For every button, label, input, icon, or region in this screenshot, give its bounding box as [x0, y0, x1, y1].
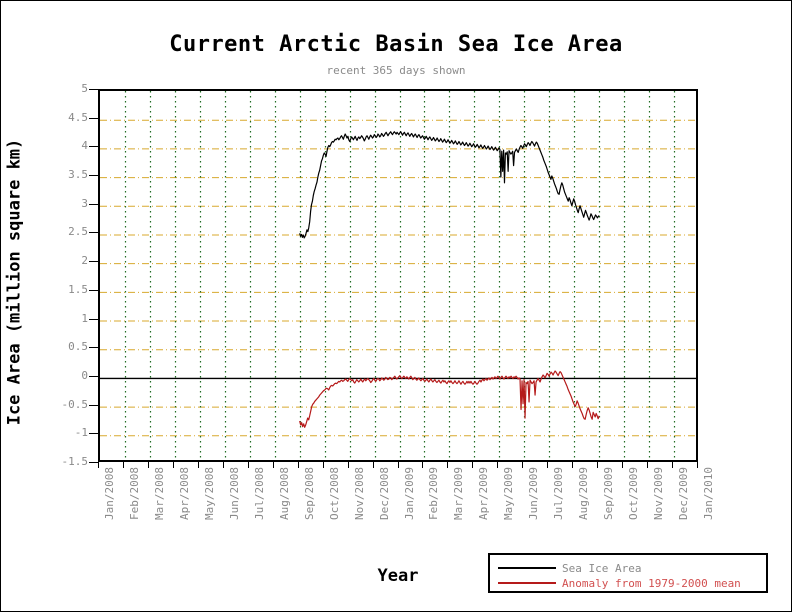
y-tick-label: 0 — [81, 369, 88, 382]
series-line — [300, 371, 600, 427]
y-tick-mark — [89, 175, 98, 176]
data-series-layer — [100, 91, 696, 460]
y-tick-label: 3.5 — [68, 168, 88, 181]
x-tick-label: Sep/2009 — [602, 467, 615, 520]
x-tick-label: Aug/2009 — [577, 467, 590, 520]
chart-root: Current Arctic Basin Sea Ice Area recent… — [0, 0, 792, 612]
x-tick-mark — [148, 462, 149, 468]
x-tick-label: Jun/2009 — [527, 467, 540, 520]
x-tick-label: Mar/2009 — [452, 467, 465, 520]
legend-item-sea-ice-area: Sea Ice Area — [498, 561, 641, 575]
y-axis-label: Ice Area (million square km) — [2, 96, 28, 469]
x-tick-label: Feb/2008 — [128, 467, 141, 520]
x-tick-mark — [348, 462, 349, 468]
x-tick-mark — [572, 462, 573, 468]
y-tick-mark — [89, 376, 98, 377]
x-tick-label: Mar/2008 — [153, 467, 166, 520]
x-tick-label: Jan/2010 — [702, 467, 715, 520]
x-tick-label: Nov/2009 — [652, 467, 665, 520]
y-tick-label: 2 — [81, 254, 88, 267]
x-tick-mark — [597, 462, 598, 468]
y-tick-mark — [89, 232, 98, 233]
chart-subtitle: recent 365 days shown — [1, 64, 791, 77]
y-tick-label: 3 — [81, 197, 88, 210]
legend-swatch-sea-ice-area — [498, 567, 556, 569]
legend-item-anomaly: Anomaly from 1979-2000 mean — [498, 576, 741, 590]
x-tick-label: Dec/2008 — [378, 467, 391, 520]
y-tick-mark — [89, 319, 98, 320]
y-tick-mark — [89, 118, 98, 119]
legend-swatch-anomaly — [498, 582, 556, 584]
chart-title: Current Arctic Basin Sea Ice Area — [1, 32, 791, 57]
x-tick-label: Sep/2008 — [303, 467, 316, 520]
x-tick-mark — [398, 462, 399, 468]
x-tick-mark — [447, 462, 448, 468]
x-tick-mark — [547, 462, 548, 468]
x-tick-mark — [173, 462, 174, 468]
y-tick-label: 4.5 — [68, 111, 88, 124]
x-tick-mark — [472, 462, 473, 468]
x-tick-label: Apr/2009 — [477, 467, 490, 520]
y-tick-mark — [89, 347, 98, 348]
plot-area — [98, 89, 698, 462]
y-tick-label: 1.5 — [68, 283, 88, 296]
y-tick-mark — [89, 433, 98, 434]
x-tick-label: Jan/2009 — [403, 467, 416, 520]
x-tick-label: Oct/2008 — [328, 467, 341, 520]
y-tick-label: 1 — [81, 312, 88, 325]
x-tick-label: Jul/2009 — [552, 467, 565, 520]
x-tick-mark — [497, 462, 498, 468]
x-tick-label: Dec/2009 — [677, 467, 690, 520]
x-tick-label: Apr/2008 — [178, 467, 191, 520]
x-tick-mark — [373, 462, 374, 468]
y-tick-mark — [89, 204, 98, 205]
x-tick-label: Feb/2009 — [427, 467, 440, 520]
x-tick-label: Jul/2008 — [253, 467, 266, 520]
y-tick-label: -1.5 — [62, 455, 89, 468]
y-tick-label: 5 — [81, 82, 88, 95]
y-tick-label: -1 — [75, 426, 88, 439]
y-tick-mark — [89, 462, 98, 463]
y-tick-mark — [89, 405, 98, 406]
x-tick-label: Nov/2008 — [353, 467, 366, 520]
x-tick-mark — [123, 462, 124, 468]
y-tick-label: -0.5 — [62, 398, 89, 411]
x-tick-label: Jun/2008 — [228, 467, 241, 520]
y-tick-mark — [89, 290, 98, 291]
y-tick-mark — [89, 261, 98, 262]
x-tick-mark — [422, 462, 423, 468]
x-tick-label: Jan/2008 — [103, 467, 116, 520]
legend-label-anomaly: Anomaly from 1979-2000 mean — [562, 577, 741, 590]
x-tick-mark — [622, 462, 623, 468]
plot-inner — [100, 91, 696, 460]
x-tick-mark — [672, 462, 673, 468]
x-tick-mark — [298, 462, 299, 468]
x-tick-mark — [223, 462, 224, 468]
y-tick-mark — [89, 146, 98, 147]
chart-legend: Sea Ice Area Anomaly from 1979-2000 mean — [488, 553, 768, 593]
x-tick-mark — [522, 462, 523, 468]
x-tick-mark — [248, 462, 249, 468]
y-tick-label: 4 — [81, 139, 88, 152]
x-tick-label: Aug/2008 — [278, 467, 291, 520]
x-tick-label: Oct/2009 — [627, 467, 640, 520]
series-line — [300, 132, 600, 238]
x-tick-mark — [647, 462, 648, 468]
legend-label-sea-ice-area: Sea Ice Area — [562, 562, 641, 575]
x-tick-mark — [273, 462, 274, 468]
y-tick-label: 0.5 — [68, 340, 88, 353]
y-tick-mark — [89, 89, 98, 90]
x-tick-label: May/2009 — [502, 467, 515, 520]
x-tick-mark — [98, 462, 99, 468]
x-tick-mark — [198, 462, 199, 468]
x-tick-mark — [697, 462, 698, 468]
x-tick-mark — [323, 462, 324, 468]
y-tick-label: 2.5 — [68, 225, 88, 238]
x-tick-label: May/2008 — [203, 467, 216, 520]
